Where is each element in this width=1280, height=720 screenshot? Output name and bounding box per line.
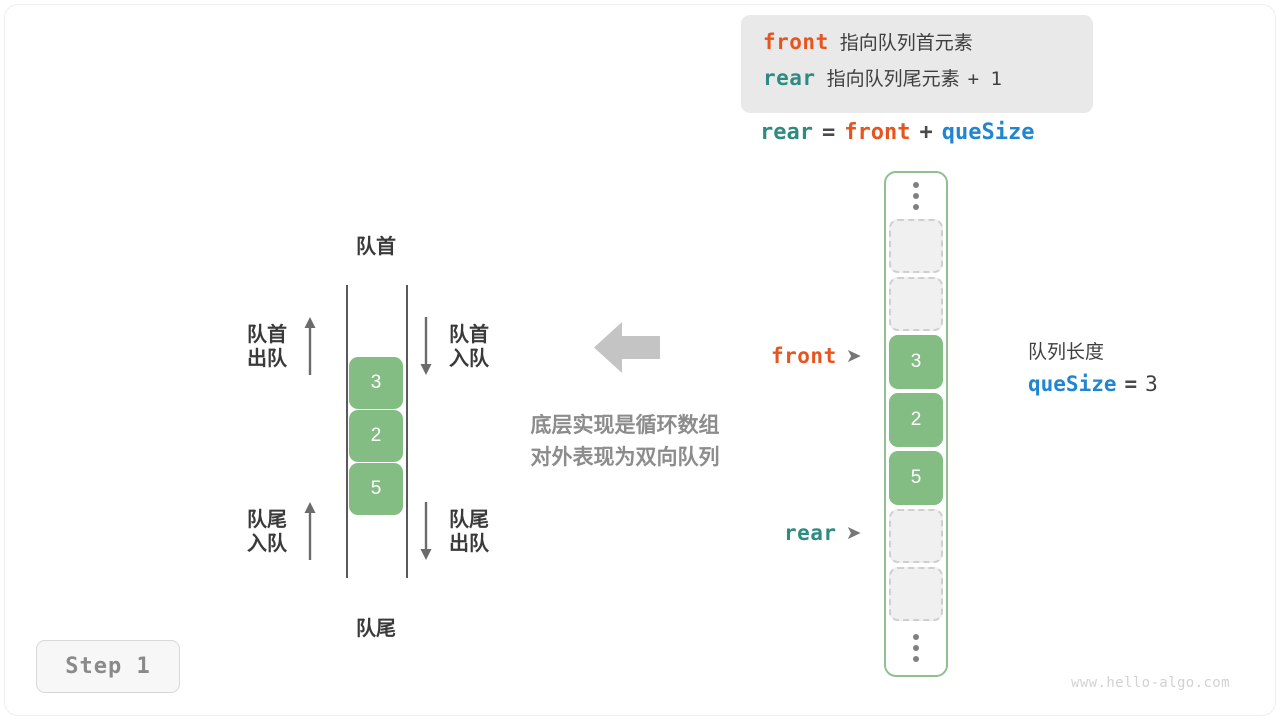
legend-rear-key: rear xyxy=(763,66,816,90)
legend-front-text: 指向队列首元素 xyxy=(840,28,973,55)
quesize-value: 3 xyxy=(1145,372,1158,396)
formula-equals: = xyxy=(822,120,835,145)
array-top-ellipsis-icon xyxy=(913,173,919,219)
arrow-up-icon xyxy=(299,500,321,562)
quesize-equals: = xyxy=(1125,372,1138,396)
formula-plus: + xyxy=(919,120,932,145)
arrow-down-icon xyxy=(415,500,437,562)
formula-quesize: queSize xyxy=(942,120,1035,145)
legend-box: front 指向队列首元素 rear 指向队列尾元素 + 1 xyxy=(741,15,1093,113)
op-head-enqueue-line2: 入队 xyxy=(449,346,489,370)
step-badge: Step 1 xyxy=(36,640,180,693)
array-cell[interactable]: 3 xyxy=(889,335,943,389)
op-tail-dequeue-line1: 队尾 xyxy=(449,507,489,531)
deque-cell-value: 5 xyxy=(371,478,382,500)
rear-pointer-label: rear xyxy=(784,521,837,545)
op-head-dequeue-line1: 队首 xyxy=(247,322,287,346)
op-head-dequeue-line2: 出队 xyxy=(247,346,287,370)
op-tail-enqueue-label: 队尾 入队 xyxy=(247,507,287,556)
array-cell-value: 5 xyxy=(911,467,922,489)
legend-rear-suffix: + 1 xyxy=(968,68,1002,90)
deque-cell-value: 2 xyxy=(371,425,382,447)
deque-cell-stack: 3 2 5 xyxy=(349,357,403,515)
implementation-note: 底层实现是循环数组 对外表现为双向队列 xyxy=(500,410,750,473)
deque-cell[interactable]: 5 xyxy=(349,463,403,515)
op-tail-enqueue-line1: 队尾 xyxy=(247,507,287,531)
arrow-up-icon xyxy=(299,315,321,377)
front-pointer-label: front xyxy=(771,344,837,368)
implementation-note-line1: 底层实现是循环数组 xyxy=(500,410,750,442)
op-head-dequeue-label: 队首 出队 xyxy=(247,322,287,371)
array-cell[interactable]: 2 xyxy=(889,393,943,447)
deque-head-label: 队首 xyxy=(316,230,436,259)
quesize-var: queSize xyxy=(1028,372,1117,396)
deque-cell-value: 3 xyxy=(371,372,382,394)
deque-cell[interactable]: 2 xyxy=(349,410,403,462)
op-head-enqueue-line1: 队首 xyxy=(449,322,489,346)
arrow-right-icon: ➤ xyxy=(846,347,862,366)
array-cell-value: 3 xyxy=(911,351,922,373)
legend-front-key: front xyxy=(763,30,829,54)
legend-rear-text: 指向队列尾元素 xyxy=(827,64,960,91)
legend-line-front: front 指向队列首元素 xyxy=(763,28,1071,64)
rear-pointer: rear ➤ xyxy=(784,521,862,545)
queue-size-expression: queSize = 3 xyxy=(1028,372,1166,396)
deque-left-rail xyxy=(346,285,348,578)
op-head-enqueue-label: 队首 入队 xyxy=(449,322,489,371)
op-tail-dequeue-line2: 出队 xyxy=(449,531,489,555)
op-tail-dequeue-label: 队尾 出队 xyxy=(449,507,489,556)
queue-size-title: 队列长度 xyxy=(1028,337,1166,364)
front-pointer: front ➤ xyxy=(771,344,862,368)
legend-line-rear: rear 指向队列尾元素 + 1 xyxy=(763,64,1071,100)
op-tail-enqueue-line2: 入队 xyxy=(247,531,287,555)
deque-right-rail xyxy=(406,285,408,578)
deque-tail-label: 队尾 xyxy=(316,612,436,641)
array-cell[interactable] xyxy=(889,277,943,331)
array-cell[interactable] xyxy=(889,567,943,621)
array-cell[interactable]: 5 xyxy=(889,451,943,505)
formula-lhs: rear xyxy=(760,120,813,145)
maps-to-arrow-left-icon xyxy=(592,320,662,375)
formula-rear-equals-front-plus-quesize: rear = front + queSize xyxy=(760,120,1043,145)
queue-size-note: 队列长度 queSize = 3 xyxy=(1028,337,1166,396)
op-head-dequeue: 队首 出队 xyxy=(247,315,321,377)
array-bottom-ellipsis-icon xyxy=(913,625,919,671)
arrow-down-icon xyxy=(415,315,437,377)
formula-front: front xyxy=(844,120,910,145)
array-cell[interactable] xyxy=(889,509,943,563)
array-cell[interactable] xyxy=(889,219,943,273)
op-tail-dequeue: 队尾 出队 xyxy=(415,500,489,562)
implementation-note-line2: 对外表现为双向队列 xyxy=(500,442,750,474)
deque-cell[interactable]: 3 xyxy=(349,357,403,409)
op-tail-enqueue: 队尾 入队 xyxy=(247,500,321,562)
circular-array-container: 3 2 5 xyxy=(884,171,948,677)
arrow-right-icon: ➤ xyxy=(846,524,862,543)
array-cell-value: 2 xyxy=(911,409,922,431)
op-head-enqueue: 队首 入队 xyxy=(415,315,489,377)
diagram-canvas: front 指向队列首元素 rear 指向队列尾元素 + 1 rear = fr… xyxy=(0,0,1280,720)
watermark: www.hello-algo.com xyxy=(1071,675,1230,691)
